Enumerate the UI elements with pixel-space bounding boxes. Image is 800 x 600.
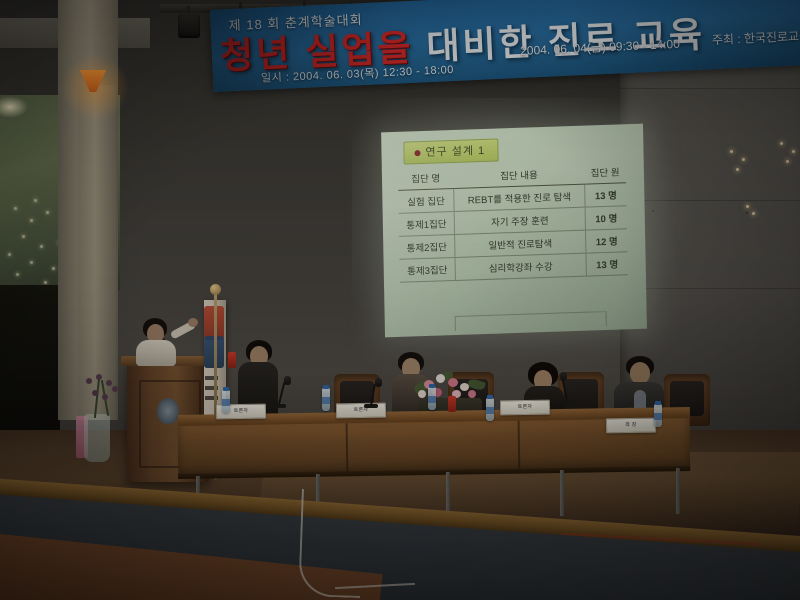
col-header-count: 집단 원 xyxy=(584,160,626,184)
cell-group: 통제3집단 xyxy=(400,257,456,282)
water-bottle xyxy=(486,398,494,421)
cell-group: 통제2집단 xyxy=(399,234,455,259)
podium-emblem-icon xyxy=(157,398,179,424)
cell-group: 실험 집단 xyxy=(398,188,454,213)
cell-group: 통제1집단 xyxy=(399,211,455,236)
nameplate: 토론자 xyxy=(500,400,550,416)
cell-count: 13 명 xyxy=(586,252,628,276)
slide-title-box: 연구 설계 1 xyxy=(403,138,498,164)
projection-screen: 연구 설계 1 집단 명 집단 내용 집단 원 실험 집단 REBT를 적용한 … xyxy=(381,124,647,338)
orchid-vase xyxy=(84,414,110,462)
slide-footer-box xyxy=(455,311,607,331)
beverage-can xyxy=(228,352,236,368)
slide-table: 집단 명 집단 내용 집단 원 실험 집단 REBT를 적용한 진로 탐색 13… xyxy=(398,160,628,283)
col-header-group: 집단 명 xyxy=(398,166,454,190)
cell-count: 12 명 xyxy=(586,229,628,253)
nameplate: 좌 장 xyxy=(606,418,656,434)
flag-finial-icon xyxy=(210,284,221,295)
banner-host: 주최 : 한국진로교육학회 xyxy=(711,26,800,48)
water-bottle xyxy=(654,404,662,427)
water-bottle xyxy=(222,390,230,413)
bullet-icon xyxy=(414,150,420,156)
stage-left-doorway xyxy=(0,285,60,435)
hall-column-face xyxy=(78,85,116,420)
slide-title: 연구 설계 1 xyxy=(425,145,485,159)
conference-photo: 제 18 회 춘계학술대회 청년 실업을 대비한 진로 교육 일시 : 2004… xyxy=(0,0,800,600)
nameplate: 토론자 xyxy=(336,403,386,419)
water-bottle xyxy=(428,387,436,410)
beverage-can xyxy=(448,396,456,412)
stage-light-icon xyxy=(176,6,202,40)
cell-content: 심리학강좌 수강 xyxy=(455,253,586,280)
water-bottle xyxy=(322,388,330,411)
floor-cable xyxy=(298,489,364,598)
cell-count: 13 명 xyxy=(585,183,627,207)
cell-count: 10 명 xyxy=(585,206,627,230)
